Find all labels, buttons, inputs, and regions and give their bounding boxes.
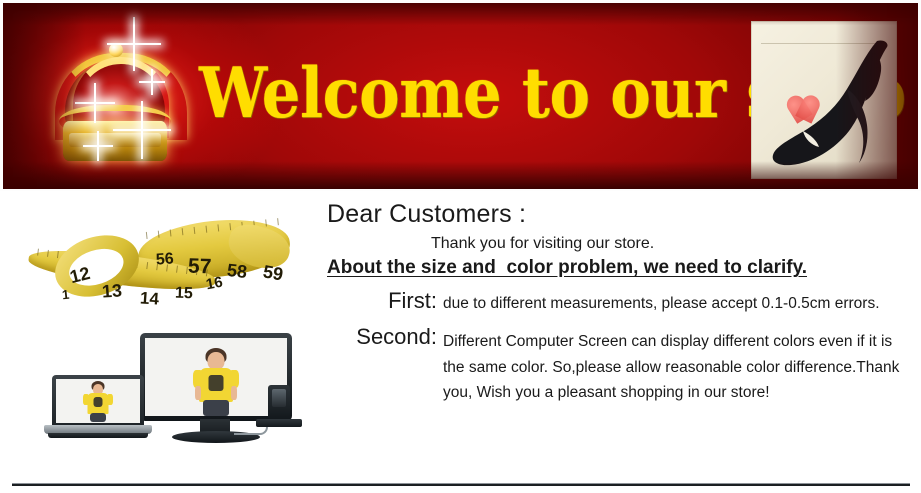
devices-image (22, 323, 312, 453)
banner-headline: Welcome to our shop ! (199, 47, 759, 139)
notice-point-body: due to different measurements, please ac… (443, 289, 912, 315)
person-figure (187, 348, 245, 416)
notice-point-label: First: (327, 289, 443, 312)
notice-point-body: Different Computer Screen can display di… (443, 325, 912, 404)
clarify-heading: About the size and color problem, we nee… (327, 257, 912, 279)
person-arm-left (195, 386, 201, 400)
tape-measure-image: 1 12 13 14 15 16 56 57 58 59 (20, 203, 305, 321)
laptop-lid (52, 375, 144, 427)
crown-orb (109, 43, 123, 57)
notice-text-block: Dear Customers : Thank you for visiting … (327, 201, 912, 405)
notice-point-label: Second: (327, 325, 443, 348)
shoe-box-icon (745, 17, 903, 183)
banner-background: Welcome to our shop ! (3, 3, 918, 189)
tshirt-print (209, 375, 224, 391)
tape-number: 13 (101, 280, 122, 302)
laptop (44, 375, 150, 437)
tape-number: 15 (175, 285, 193, 304)
media-player-device (268, 385, 290, 421)
crown-band (63, 121, 167, 161)
tape-number: 56 (155, 250, 174, 269)
high-heel-shoe-icon (761, 35, 893, 175)
person-pants (90, 413, 106, 422)
person-figure (80, 381, 116, 423)
notice-point-second: Second: Different Computer Screen can di… (327, 325, 912, 404)
greeting-line: Dear Customers : (327, 201, 912, 229)
person-pants (203, 400, 229, 416)
tshirt-print (94, 397, 103, 407)
monitor-screen (145, 338, 287, 416)
person-sleeve-right (107, 394, 113, 405)
tape-number: 1 (61, 287, 70, 303)
bottom-divider (12, 483, 910, 486)
laptop-screen (56, 379, 140, 423)
tape-number: 57 (188, 255, 212, 280)
laptop-base (48, 433, 148, 438)
tape-number: 59 (261, 261, 284, 285)
notice-point-first: First: due to different measurements, pl… (327, 289, 912, 315)
tape-number: 58 (226, 260, 248, 283)
media-player-base (256, 419, 302, 427)
person-sleeve-left (83, 394, 89, 405)
notice-section: 1 12 13 14 15 16 56 57 58 59 (0, 191, 921, 493)
welcome-banner: Welcome to our shop ! (0, 0, 921, 191)
tape-number: 14 (139, 288, 159, 309)
person-arm-right (231, 386, 237, 400)
crown-icon (21, 13, 211, 188)
heart-icon (789, 95, 819, 123)
thanks-line: Thank you for visiting our store. (431, 235, 912, 253)
